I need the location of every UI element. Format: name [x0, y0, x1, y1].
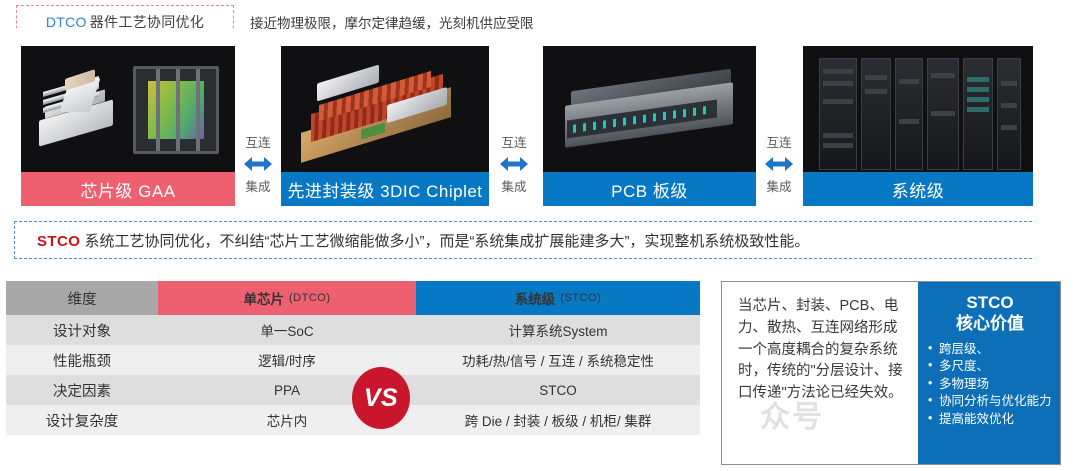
3dic-chiplet-stack-image [281, 46, 489, 172]
double-arrow-icon [764, 154, 794, 179]
connector-bottom-label: 集成 [245, 180, 270, 196]
table-row: 设计对象 单一SoC 计算系统System [6, 315, 700, 345]
connector-bottom-label: 集成 [501, 180, 526, 196]
top-note: 接近物理极限，摩尔定律趋缓，光刻机供应受限 [250, 12, 534, 32]
panel-caption: 系统级 [803, 172, 1033, 206]
double-arrow-icon [499, 154, 529, 179]
panel-strip: 芯片级 GAA 互连 集成 先进封装级 3DIC Chiplet 互连 集 [0, 46, 1080, 206]
header-single-chip-label: 单芯片 [244, 288, 285, 308]
cell-system: STCO [416, 375, 700, 405]
list-item: 多尺度、 [928, 358, 1052, 375]
card-bullet-list: 跨层级、 多尺度、 多物理场 协同分析与优化能力 提高能效优化 [928, 341, 1052, 428]
server-racks-image [803, 46, 1033, 172]
connector-top-label: 互连 [245, 136, 270, 152]
cell-dimension: 设计复杂度 [6, 405, 158, 435]
server-racks-icon [815, 58, 1021, 170]
header-dimension: 维度 [6, 281, 158, 315]
dtco-tag-label: 器件工艺协同优化 [90, 12, 204, 32]
connector-top-label: 互连 [501, 136, 526, 152]
gaa-structure-icon [35, 70, 123, 150]
cell-system: 计算系统System [416, 315, 700, 345]
panel-advanced-packaging[interactable]: 先进封装级 3DIC Chiplet [281, 46, 489, 206]
card-title: STCO 核心价值 [928, 292, 1052, 335]
header-single-chip-sub: (DTCO) [289, 292, 331, 304]
card-title-line1: STCO [928, 292, 1052, 313]
card-title-line2: 核心价值 [928, 313, 1052, 334]
connector-bottom-label: 集成 [766, 180, 791, 196]
panel-chip-level[interactable]: 芯片级 GAA [21, 46, 235, 206]
table-header-row: 维度 单芯片 (DTCO) 系统级 (STCO) [6, 281, 700, 315]
dtco-tag: DTCO 器件工艺协同优化 [16, 5, 234, 39]
chiplet-stack-icon [301, 72, 469, 152]
table-row: 设计复杂度 芯片内 跨 Die / 封装 / 板级 / 机柜/ 集群 [6, 405, 700, 435]
panel-caption: PCB 板级 [543, 172, 756, 206]
vs-badge: VS [352, 367, 410, 429]
list-item: 提高能效优化 [928, 411, 1052, 428]
table-row: 性能瓶颈 逻辑/时序 功耗/热/信号 / 互连 / 系统稳定性 [6, 345, 700, 375]
card-blue-panel: STCO 核心价值 跨层级、 多尺度、 多物理场 协同分析与优化能力 提高能效优… [918, 282, 1060, 464]
gaa-transistor-die-image [21, 46, 235, 172]
comparison-table: 维度 单芯片 (DTCO) 系统级 (STCO) 设计对象 单一SoC 计算系统… [6, 281, 700, 465]
header-system-label: 系统级 [515, 288, 556, 308]
stco-banner-body: 系统工艺协同优化，不纠结“芯片工艺微缩能做多小”，而是“系统集成扩展能建多大”，… [80, 233, 809, 250]
panel-system-level[interactable]: 系统级 [803, 46, 1033, 206]
panel-pcb-level[interactable]: PCB 板级 [543, 46, 756, 206]
header-single-chip: 单芯片 (DTCO) [158, 281, 416, 315]
double-arrow-icon [243, 154, 273, 179]
cell-system: 跨 Die / 封装 / 板级 / 机柜/ 集群 [416, 405, 700, 435]
cell-system: 功耗/热/信号 / 互连 / 系统稳定性 [416, 345, 700, 375]
connector-top-label: 互连 [766, 136, 791, 152]
stco-banner-text: STCO 系统工艺协同优化，不纠结“芯片工艺微缩能做多小”，而是“系统集成扩展能… [15, 230, 809, 251]
connector-3: 互连 集成 [757, 128, 801, 204]
card-body-text: 当芯片、封装、PCB、电力、散热、互连网络形成一个高度耦合的复杂系统时，传统的"… [722, 282, 918, 464]
panel-caption: 先进封装级 3DIC Chiplet [281, 172, 489, 206]
stco-banner: STCO 系统工艺协同优化，不纠结“芯片工艺微缩能做多小”，而是“系统集成扩展能… [14, 221, 1062, 259]
cell-dimension: 决定因素 [6, 375, 158, 405]
header-system: 系统级 (STCO) [416, 281, 700, 315]
list-item: 跨层级、 [928, 341, 1052, 358]
connector-1: 互连 集成 [236, 128, 280, 204]
rack-server-image [543, 46, 756, 172]
cell-dimension: 性能瓶颈 [6, 345, 158, 375]
list-item: 多物理场 [928, 376, 1052, 393]
panel-caption: 芯片级 GAA [21, 172, 235, 206]
slide-canvas: DTCO 器件工艺协同优化 接近物理极限，摩尔定律趋缓，光刻机供应受限 芯片级 … [0, 0, 1080, 471]
stco-banner-highlight: STCO [37, 233, 80, 250]
stco-core-value-card: 当芯片、封装、PCB、电力、散热、互连网络形成一个高度耦合的复杂系统时，传统的"… [721, 281, 1061, 465]
server-chassis-icon [565, 80, 737, 146]
list-item: 协同分析与优化能力 [928, 393, 1052, 410]
die-photo [133, 66, 219, 154]
cell-dimension: 设计对象 [6, 315, 158, 345]
cell-single: 单一SoC [158, 315, 416, 345]
dtco-tag-highlight: DTCO [46, 14, 87, 30]
header-system-sub: (STCO) [560, 292, 601, 304]
connector-2: 互连 集成 [492, 128, 536, 204]
